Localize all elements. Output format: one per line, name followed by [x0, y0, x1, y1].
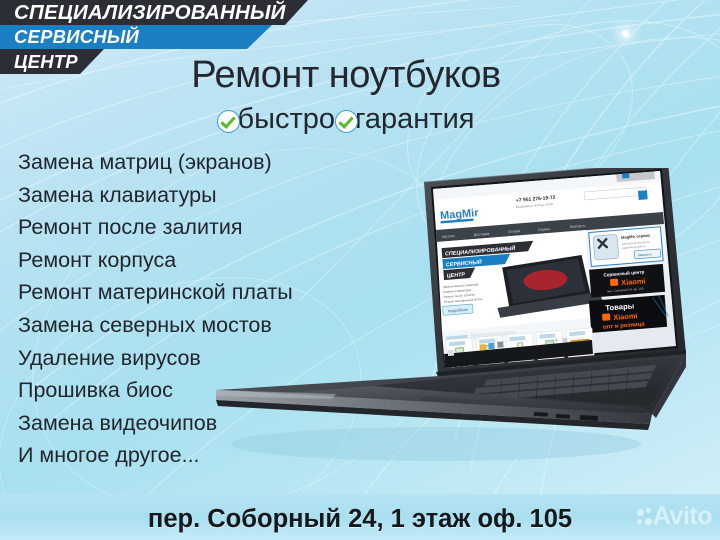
svg-text:12:45: 12:45 [573, 337, 581, 342]
ribbon-service: СЕРВИСНЫЙ [0, 25, 272, 49]
ribbon-specialized: СПЕЦИАЛИЗИРОВАННЫЙ [0, 0, 308, 25]
ribbon-service-label: СЕРВИСНЫЙ [14, 26, 139, 48]
ribbon-center-label: ЦЕНТР [14, 51, 78, 73]
light-flare-decoration [620, 28, 631, 39]
avito-watermark: Avito [637, 502, 712, 531]
benefit-fast-label: быстро [237, 103, 335, 136]
avito-dots-icon [637, 507, 652, 527]
benefits-line: быстро гарантия [146, 103, 546, 136]
benefit-warranty-label: гарантия [355, 103, 475, 136]
page-title: Ремонт ноутбуков [146, 54, 546, 97]
check-circle-icon [217, 110, 240, 133]
laptop-screen: MagMir +7 951 276-19-72 Ежедневно с 9:00… [424, 168, 686, 376]
address-bar: пер. Соборный 24, 1 этаж оф. 105 Avito [0, 494, 720, 540]
address-text: пер. Соборный 24, 1 этаж оф. 105 [0, 505, 720, 534]
check-circle-icon [335, 110, 358, 133]
avito-wordmark: Avito [653, 502, 712, 531]
advert-poster: СПЕЦИАЛИЗИРОВАННЫЙ СЕРВИСНЫЙ ЦЕНТР Ремон… [0, 0, 720, 540]
ribbon-center: ЦЕНТР [0, 49, 104, 74]
laptop-photo: MagMir +7 951 276-19-72 Ежедневно с 9:00… [186, 168, 686, 468]
ribbon-specialized-label: СПЕЦИАЛИЗИРОВАННЫЙ [14, 1, 286, 25]
